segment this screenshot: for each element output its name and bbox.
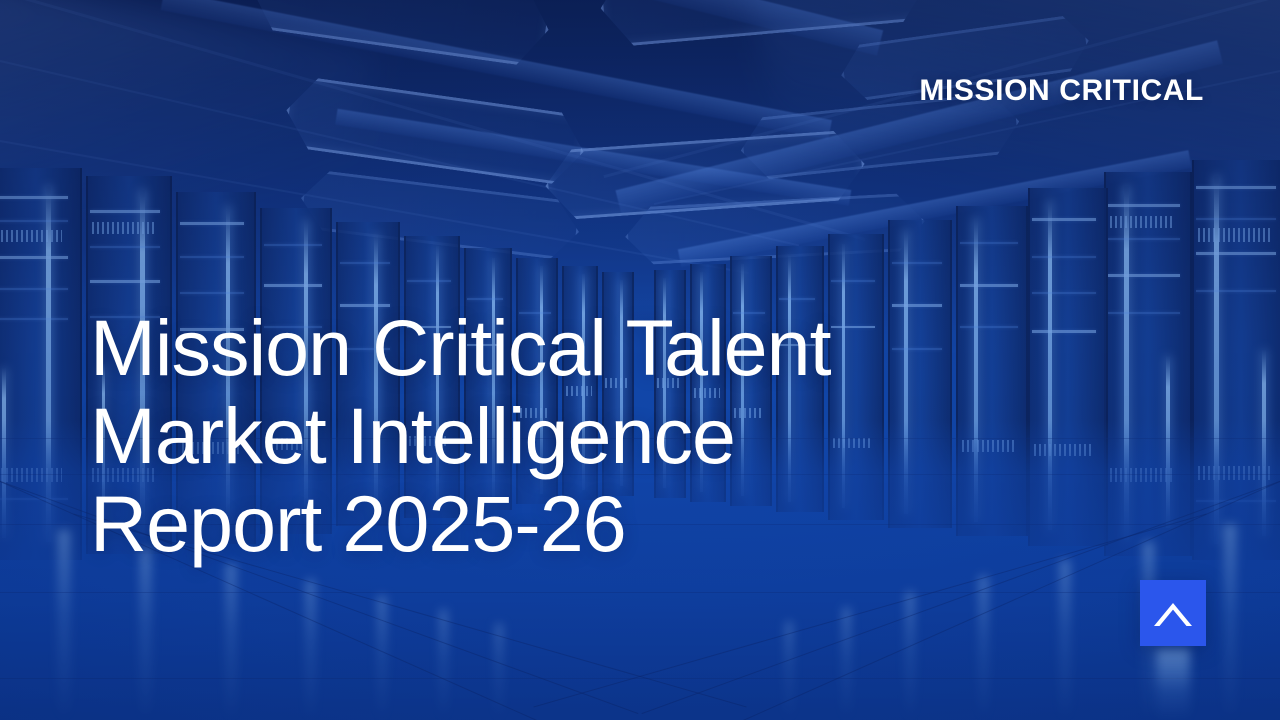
page-title: Mission Critical Talent Market Intellige… [90,304,1050,568]
brand-eyebrow: MISSION CRITICAL [919,76,1204,106]
chevron-up-icon [1151,598,1195,628]
title-line-1: Mission Critical Talent [90,304,1050,392]
logo-floor-reflection [1156,648,1190,720]
logo-badge[interactable] [1140,580,1206,646]
title-slide: MISSION CRITICAL Mission Critical Talent… [0,0,1280,720]
title-line-2: Market Intelligence [90,392,1050,480]
title-line-3: Report 2025-26 [90,480,1050,568]
